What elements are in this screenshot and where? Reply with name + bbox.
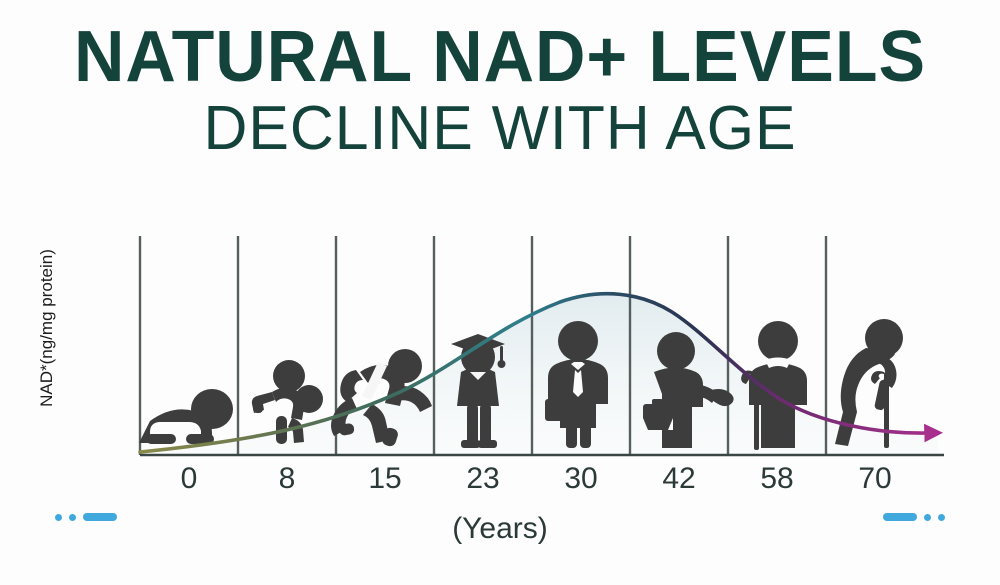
decor-bar-icon (883, 513, 917, 521)
x-tick-6: 58 (728, 462, 826, 496)
x-tick-0: 0 (140, 462, 238, 496)
decoration-right (883, 513, 945, 521)
x-tick-4: 30 (532, 462, 630, 496)
infographic-root: NATURAL NAD+ LEVELS DECLINE WITH AGE (0, 0, 1000, 585)
x-tick-7: 70 (826, 462, 924, 496)
decor-dot-icon (924, 514, 931, 521)
decor-dot-icon (938, 514, 945, 521)
chart-container: NAD*(ng/mg protein) 0 8 15 23 30 42 58 7… (0, 0, 1000, 585)
y-axis-label: NAD*(ng/mg protein) (37, 218, 57, 438)
x-tick-3: 23 (434, 462, 532, 496)
x-tick-1: 8 (238, 462, 336, 496)
x-tick-2: 15 (336, 462, 434, 496)
curve-area-fill (140, 294, 938, 455)
x-axis-title: (Years) (0, 512, 1000, 546)
decor-dot-icon (55, 514, 62, 521)
decoration-left (55, 513, 117, 521)
decor-dot-icon (69, 514, 76, 521)
decor-bar-icon (83, 513, 117, 521)
figure-baby-crawling (139, 389, 233, 444)
nad-decline-line-chart (0, 0, 1000, 585)
x-tick-5: 42 (630, 462, 728, 496)
